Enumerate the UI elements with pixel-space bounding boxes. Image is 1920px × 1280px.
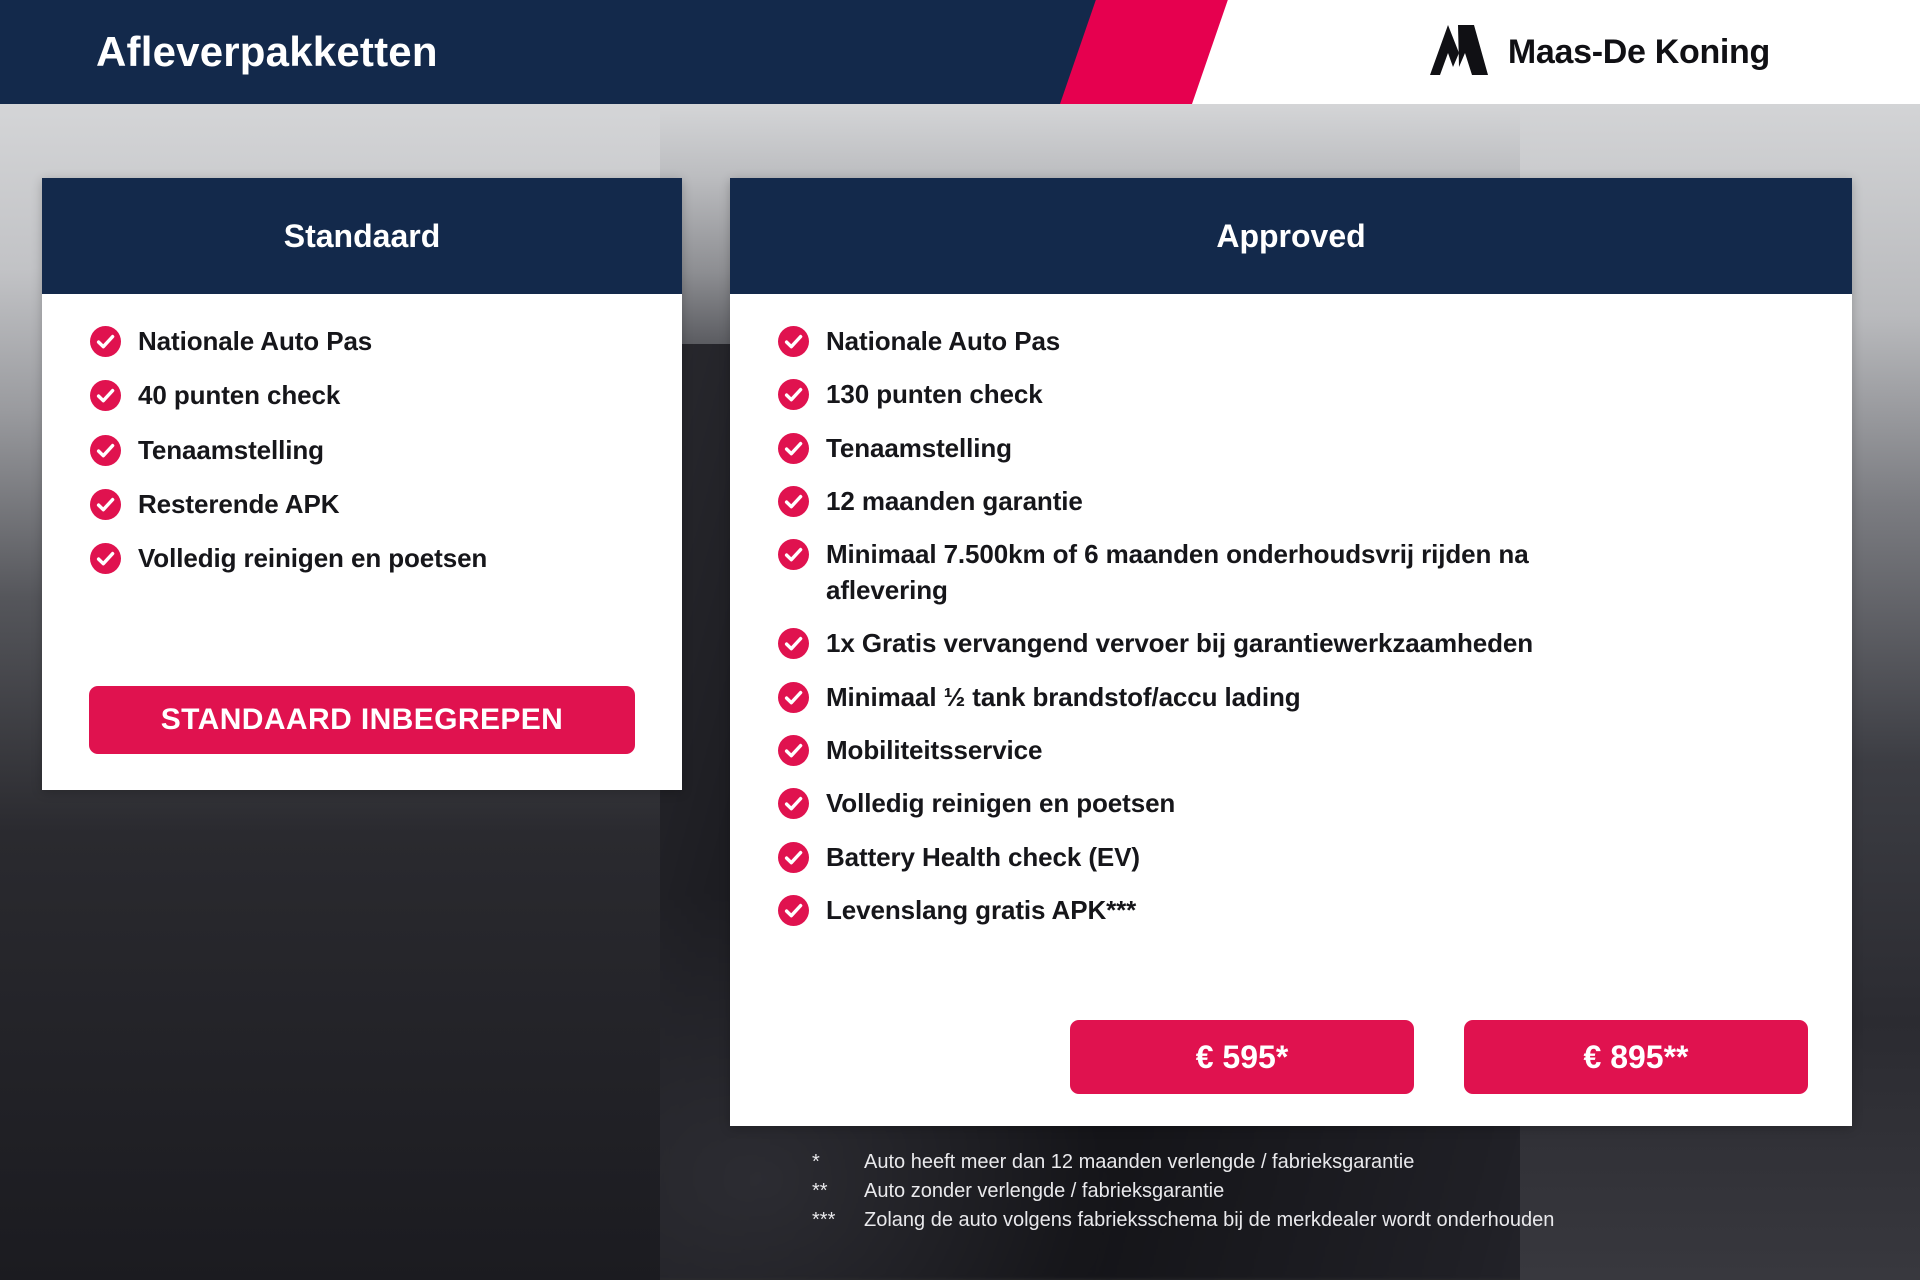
footnote-row: ** Auto zonder verlengde / fabrieksgaran… xyxy=(812,1177,1554,1206)
card-title-standaard: Standaard xyxy=(284,218,440,255)
price-button-595[interactable]: € 595* xyxy=(1070,1020,1414,1094)
feature-list-approved: Nationale Auto Pas 130 punten check xyxy=(730,294,1852,928)
check-circle-icon xyxy=(778,735,809,766)
footnotes-block: * Auto heeft meer dan 12 maanden verleng… xyxy=(812,1148,1554,1236)
feature-label: Minimaal 7.500km of 6 maanden onderhouds… xyxy=(826,537,1586,608)
feature-label: Nationale Auto Pas xyxy=(826,324,1060,359)
brand-lockup: Maas-De Koning xyxy=(1428,0,1770,104)
check-circle-icon xyxy=(778,539,809,570)
footnote-marker: * xyxy=(812,1148,864,1177)
check-circle-icon xyxy=(778,326,809,357)
header-bar: Afleverpakketten Maas-De Koning xyxy=(0,0,1920,104)
card-header-approved: Approved xyxy=(730,178,1852,294)
check-circle-icon xyxy=(778,842,809,873)
feature-label: Tenaamstelling xyxy=(138,433,324,468)
standaard-inbegrepen-button[interactable]: STANDAARD INBEGREPEN xyxy=(89,686,635,754)
check-circle-icon xyxy=(778,486,809,517)
check-circle-icon xyxy=(90,380,121,411)
list-item: Nationale Auto Pas xyxy=(778,324,1852,359)
footnote-marker: ** xyxy=(812,1177,864,1206)
list-item: Mobiliteitsservice xyxy=(778,733,1852,768)
list-item: Levenslang gratis APK*** xyxy=(778,893,1852,928)
list-item: Minimaal 7.500km of 6 maanden onderhouds… xyxy=(778,537,1852,608)
footnote-marker: *** xyxy=(812,1206,864,1235)
package-card-standaard: Standaard Nationale Auto Pas xyxy=(42,178,682,790)
list-item: 130 punten check xyxy=(778,377,1852,412)
check-circle-icon xyxy=(778,682,809,713)
list-item: Tenaamstelling xyxy=(90,433,682,468)
list-item: Battery Health check (EV) xyxy=(778,840,1852,875)
feature-label: 1x Gratis vervangend vervoer bij garanti… xyxy=(826,626,1533,661)
poster-root: Afleverpakketten Maas-De Koning Standaar… xyxy=(0,0,1920,1280)
check-circle-icon xyxy=(90,543,121,574)
list-item: Volledig reinigen en poetsen xyxy=(90,541,682,576)
price-button-row: € 595* € 895** xyxy=(1070,1020,1808,1094)
maas-de-koning-monogram-icon xyxy=(1428,23,1490,82)
feature-label: Minimaal ½ tank brandstof/accu lading xyxy=(826,680,1301,715)
card-title-approved: Approved xyxy=(1216,218,1365,255)
feature-label: 130 punten check xyxy=(826,377,1043,412)
feature-label: 40 punten check xyxy=(138,378,340,413)
footnote-text: Auto zonder verlengde / fabrieksgarantie xyxy=(864,1177,1224,1206)
package-card-approved: Approved Nationale Auto Pas xyxy=(730,178,1852,1126)
feature-label: Volledig reinigen en poetsen xyxy=(826,786,1175,821)
footnote-text: Zolang de auto volgens fabrieksschema bi… xyxy=(864,1206,1554,1235)
check-circle-icon xyxy=(778,433,809,464)
list-item: Resterende APK xyxy=(90,487,682,522)
check-circle-icon xyxy=(778,788,809,819)
page-title: Afleverpakketten xyxy=(96,0,438,104)
feature-label: Tenaamstelling xyxy=(826,431,1012,466)
check-circle-icon xyxy=(90,489,121,520)
footnote-row: * Auto heeft meer dan 12 maanden verleng… xyxy=(812,1148,1554,1177)
list-item: Nationale Auto Pas xyxy=(90,324,682,359)
list-item: 1x Gratis vervangend vervoer bij garanti… xyxy=(778,626,1852,661)
feature-label: Volledig reinigen en poetsen xyxy=(138,541,487,576)
check-circle-icon xyxy=(778,895,809,926)
feature-label: 12 maanden garantie xyxy=(826,484,1083,519)
footnote-text: Auto heeft meer dan 12 maanden verlengde… xyxy=(864,1148,1414,1177)
check-circle-icon xyxy=(90,435,121,466)
price-button-895[interactable]: € 895** xyxy=(1464,1020,1808,1094)
feature-label: Resterende APK xyxy=(138,487,339,522)
list-item: Volledig reinigen en poetsen xyxy=(778,786,1852,821)
brand-name: Maas-De Koning xyxy=(1508,33,1770,72)
footnote-row: *** Zolang de auto volgens fabrieksschem… xyxy=(812,1206,1554,1235)
list-item: 40 punten check xyxy=(90,378,682,413)
feature-list-standaard: Nationale Auto Pas 40 punten check xyxy=(42,294,682,577)
feature-label: Levenslang gratis APK*** xyxy=(826,893,1136,928)
feature-label: Mobiliteitsservice xyxy=(826,733,1042,768)
feature-label: Battery Health check (EV) xyxy=(826,840,1140,875)
list-item: Tenaamstelling xyxy=(778,431,1852,466)
check-circle-icon xyxy=(778,379,809,410)
feature-label: Nationale Auto Pas xyxy=(138,324,372,359)
check-circle-icon xyxy=(778,628,809,659)
check-circle-icon xyxy=(90,326,121,357)
card-header-standaard: Standaard xyxy=(42,178,682,294)
list-item: Minimaal ½ tank brandstof/accu lading xyxy=(778,680,1852,715)
list-item: 12 maanden garantie xyxy=(778,484,1852,519)
